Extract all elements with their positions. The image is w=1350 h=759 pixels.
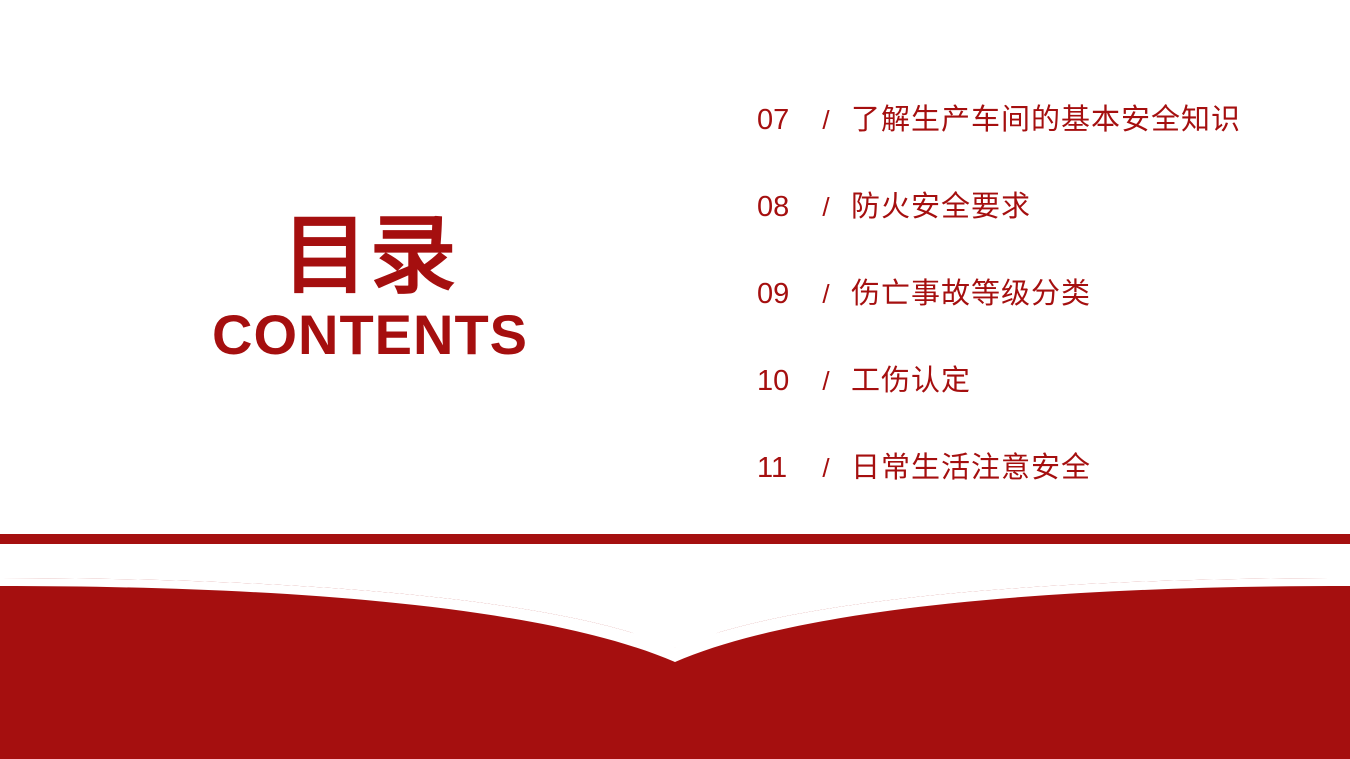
book-pages-icon xyxy=(0,552,1350,759)
list-item-number: 10 xyxy=(757,365,801,398)
page-title-cn: 目录 xyxy=(0,210,740,302)
list-item-number: 08 xyxy=(757,191,801,224)
list-item-number: 11 xyxy=(757,452,801,485)
list-item-number: 09 xyxy=(757,278,801,311)
list-item[interactable]: 09 / 伤亡事故等级分类 xyxy=(757,270,1327,357)
book-top-bar xyxy=(0,534,1350,544)
list-item-label: 防火安全要求 xyxy=(851,183,1031,225)
list-item[interactable]: 11 / 日常生活注意安全 xyxy=(757,444,1327,531)
page-title-en: CONTENTS xyxy=(0,302,740,366)
list-item-separator: / xyxy=(801,366,851,397)
list-item-separator: / xyxy=(801,105,851,136)
list-item-label: 伤亡事故等级分类 xyxy=(851,270,1091,312)
list-item-label: 了解生产车间的基本安全知识 xyxy=(851,96,1241,138)
list-item[interactable]: 07 / 了解生产车间的基本安全知识 xyxy=(757,96,1327,183)
list-item-number: 07 xyxy=(757,104,801,137)
list-item-separator: / xyxy=(801,192,851,223)
list-item[interactable]: 08 / 防火安全要求 xyxy=(757,183,1327,270)
contents-list: 07 / 了解生产车间的基本安全知识 08 / 防火安全要求 09 / 伤亡事故… xyxy=(757,96,1327,531)
list-item-label: 工伤认定 xyxy=(851,357,971,399)
title-block: 目录 CONTENTS xyxy=(0,210,740,366)
slide-canvas: 目录 CONTENTS 07 / 了解生产车间的基本安全知识 08 / 防火安全… xyxy=(0,0,1350,759)
list-item[interactable]: 10 / 工伤认定 xyxy=(757,357,1327,444)
list-item-separator: / xyxy=(801,279,851,310)
list-item-separator: / xyxy=(801,453,851,484)
list-item-label: 日常生活注意安全 xyxy=(851,444,1091,486)
open-book-decoration xyxy=(0,534,1350,759)
